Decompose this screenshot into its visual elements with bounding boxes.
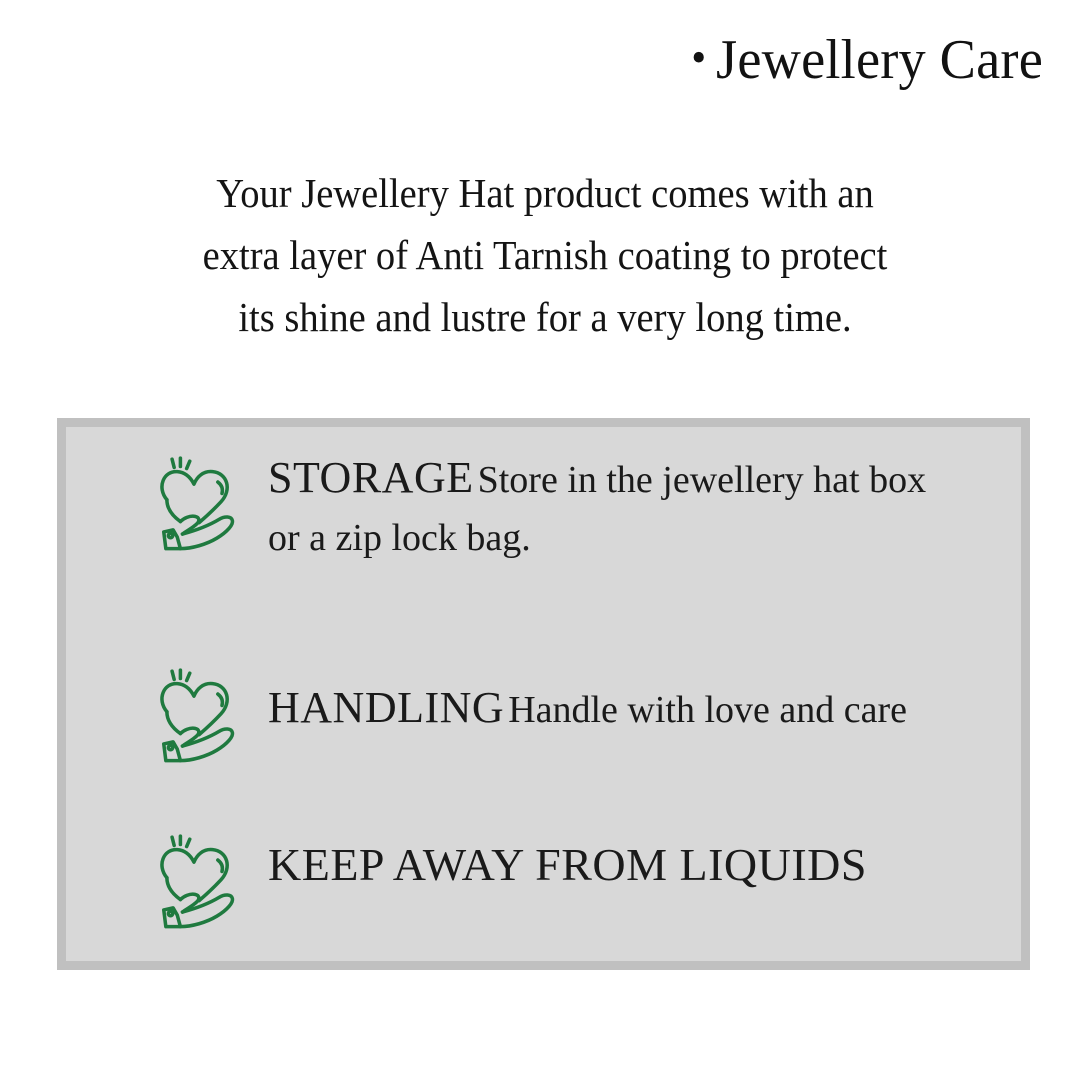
care-description-line-1: Store in the jewellery hat box (478, 459, 927, 501)
care-heading: KEEP AWAY FROM LIQUIDS (268, 839, 867, 890)
bullet-icon: • (691, 33, 716, 82)
page-title: •Jewellery Care (31, 28, 1043, 92)
list-item-text: KEEP AWAY FROM LIQUIDS (268, 839, 867, 891)
intro-line-3: its shine and lustre for a very long tim… (99, 286, 992, 348)
list-item: HANDLING Handle with love and care (144, 659, 907, 771)
heart-in-hand-icon (144, 667, 248, 771)
care-instructions-panel: STORAGE Store in the jewellery hat box o… (57, 418, 1030, 970)
intro-line-1: Your Jewellery Hat product comes with an (99, 162, 992, 224)
care-heading: STORAGE (268, 453, 474, 502)
list-item-text: HANDLING Handle with love and care (268, 681, 907, 739)
intro-paragraph: Your Jewellery Hat product comes with an… (99, 162, 992, 348)
care-instruction-list: STORAGE Store in the jewellery hat box o… (66, 427, 1021, 961)
heart-in-hand-icon (144, 833, 248, 937)
list-item-text: STORAGE Store in the jewellery hat box o… (268, 451, 1021, 567)
list-item: STORAGE Store in the jewellery hat box o… (144, 447, 1021, 567)
list-item: KEEP AWAY FROM LIQUIDS (144, 825, 867, 937)
page-title-text: Jewellery Care (716, 29, 1043, 91)
care-heading: HANDLING (268, 683, 504, 732)
heart-in-hand-icon (144, 455, 248, 559)
care-description-line-2: or a zip lock bag. (268, 517, 531, 559)
intro-line-2: extra layer of Anti Tarnish coating to p… (99, 224, 992, 286)
care-description-line-1: Handle with love and care (508, 689, 907, 731)
